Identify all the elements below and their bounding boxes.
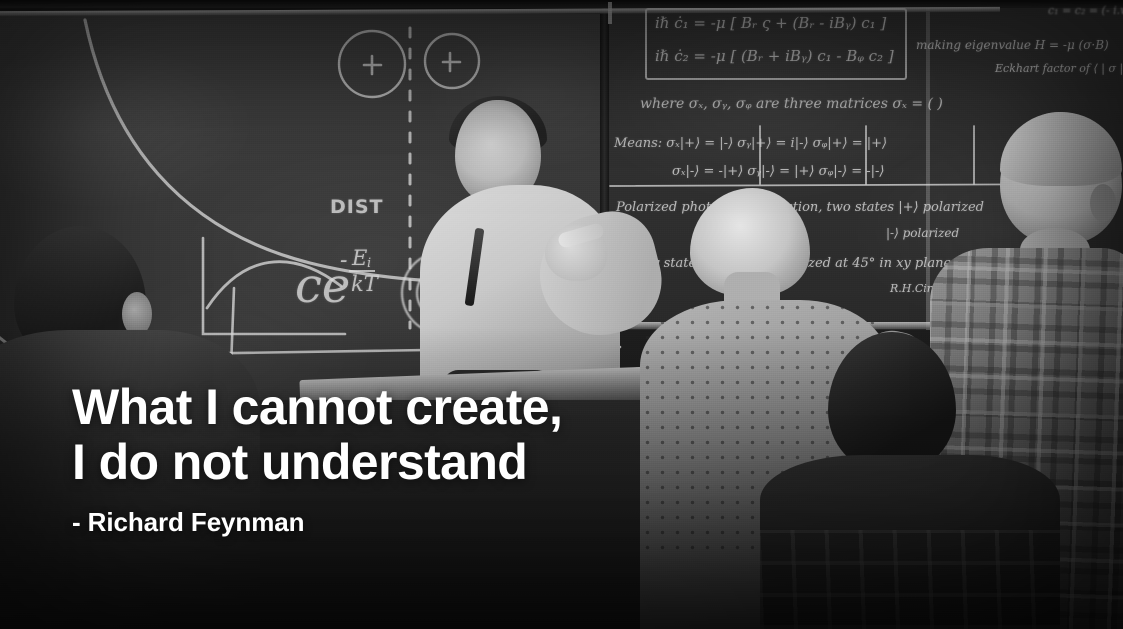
quote-line-1: What I cannot create,: [72, 380, 1123, 435]
quote-overlay: What I cannot create, I do not understan…: [0, 330, 1123, 629]
feynman-quote-image: DIST ce - E i kT iℏ ċ₁ = -μ [ Bᵣ ς + (Bᵣ…: [0, 0, 1123, 629]
quote-text: What I cannot create, I do not understan…: [72, 380, 1123, 490]
quote-attribution: - Richard Feynman: [72, 507, 1123, 538]
quote-line-2: I do not understand: [72, 435, 1123, 490]
